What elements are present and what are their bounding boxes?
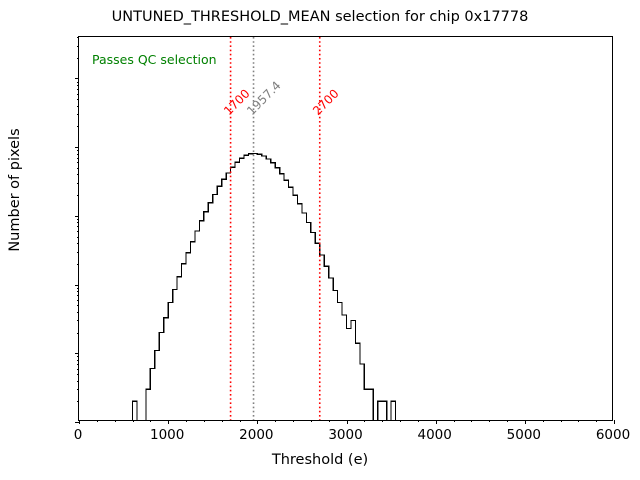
y-tick-minor — [77, 126, 79, 127]
x-tick-mark — [257, 420, 258, 424]
x-tick-minor — [418, 420, 419, 422]
y-tick-minor — [77, 312, 79, 313]
y-tick-mark — [75, 216, 79, 217]
x-tick-label: 6000 — [596, 427, 630, 443]
y-tick-minor — [77, 401, 79, 402]
y-tick-mark — [75, 285, 79, 286]
x-tick-minor — [97, 420, 98, 422]
x-tick-minor — [186, 420, 187, 422]
x-tick-mark — [525, 420, 526, 424]
x-tick-mark — [347, 420, 348, 424]
y-tick-minor — [77, 264, 79, 265]
y-axis-label: Number of pixels — [7, 40, 23, 340]
plot-inner — [79, 37, 612, 420]
x-tick-minor — [133, 420, 134, 422]
y-tick-minor — [77, 389, 79, 390]
x-tick-minor — [364, 420, 365, 422]
x-tick-mark — [79, 420, 80, 424]
x-axis-label: Threshold (e) — [0, 452, 640, 468]
x-tick-minor — [454, 420, 455, 422]
y-tick-minor — [77, 114, 79, 115]
y-tick-minor — [77, 46, 79, 47]
x-tick-minor — [561, 420, 562, 422]
x-tick-minor — [578, 420, 579, 422]
y-tick-minor — [77, 356, 79, 357]
x-tick-label: 0 — [74, 427, 83, 443]
y-tick-minor — [77, 381, 79, 382]
x-tick-minor — [596, 420, 597, 422]
x-tick-mark — [436, 420, 437, 424]
y-tick-minor — [77, 174, 79, 175]
x-tick-minor — [240, 420, 241, 422]
y-tick-minor — [77, 226, 79, 227]
x-tick-label: 2000 — [239, 427, 273, 443]
y-tick-mark — [75, 147, 79, 148]
y-tick-minor — [77, 243, 79, 244]
y-tick-minor — [77, 222, 79, 223]
y-tick-minor — [77, 374, 79, 375]
x-tick-minor — [115, 420, 116, 422]
y-tick-minor — [77, 89, 79, 90]
y-tick-minor — [77, 150, 79, 151]
x-tick-label: 5000 — [507, 427, 541, 443]
plot-area: 100101102103104105 — [78, 36, 613, 421]
x-tick-minor — [471, 420, 472, 422]
y-tick-minor — [77, 94, 79, 95]
qc-status-text: Passes QC selection — [92, 52, 217, 67]
x-tick-minor — [204, 420, 205, 422]
y-tick-minor — [77, 369, 79, 370]
y-tick-minor — [77, 252, 79, 253]
y-tick-minor — [77, 183, 79, 184]
y-tick-minor — [77, 291, 79, 292]
x-tick-minor — [293, 420, 294, 422]
y-tick-minor — [77, 295, 79, 296]
x-tick-minor — [150, 420, 151, 422]
y-tick-minor — [77, 158, 79, 159]
threshold-vlines — [79, 37, 612, 420]
y-tick-minor — [77, 360, 79, 361]
x-tick-minor — [382, 420, 383, 422]
y-tick-minor — [77, 300, 79, 301]
y-tick-minor — [77, 37, 79, 38]
x-tick-minor — [489, 420, 490, 422]
x-tick-label: 3000 — [328, 427, 362, 443]
y-tick-minor — [77, 168, 79, 169]
y-tick-minor — [77, 99, 79, 100]
y-tick-minor — [77, 288, 79, 289]
chart-title: UNTUNED_THRESHOLD_MEAN selection for chi… — [0, 9, 640, 25]
x-tick-minor — [543, 420, 544, 422]
y-tick-minor — [77, 231, 79, 232]
y-tick-mark — [75, 353, 79, 354]
y-tick-minor — [77, 305, 79, 306]
y-tick-mark — [75, 78, 79, 79]
x-tick-label: 1000 — [150, 427, 184, 443]
x-tick-minor — [507, 420, 508, 422]
y-tick-minor — [77, 364, 79, 365]
y-tick-minor — [77, 219, 79, 220]
x-tick-mark — [614, 420, 615, 424]
matplotlib-figure: UNTUNED_THRESHOLD_MEAN selection for chi… — [0, 0, 640, 480]
y-tick-minor — [77, 195, 79, 196]
x-tick-mark — [168, 420, 169, 424]
x-tick-minor — [275, 420, 276, 422]
y-tick-minor — [77, 85, 79, 86]
y-tick-minor — [77, 58, 79, 59]
x-tick-minor — [400, 420, 401, 422]
y-tick-minor — [77, 154, 79, 155]
y-tick-minor — [77, 237, 79, 238]
x-tick-minor — [222, 420, 223, 422]
y-tick-minor — [77, 162, 79, 163]
y-tick-minor — [77, 320, 79, 321]
y-tick-minor — [77, 106, 79, 107]
y-tick-minor — [77, 333, 79, 334]
x-tick-minor — [329, 420, 330, 422]
x-tick-minor — [311, 420, 312, 422]
x-tick-label: 4000 — [417, 427, 451, 443]
y-tick-minor — [77, 82, 79, 83]
